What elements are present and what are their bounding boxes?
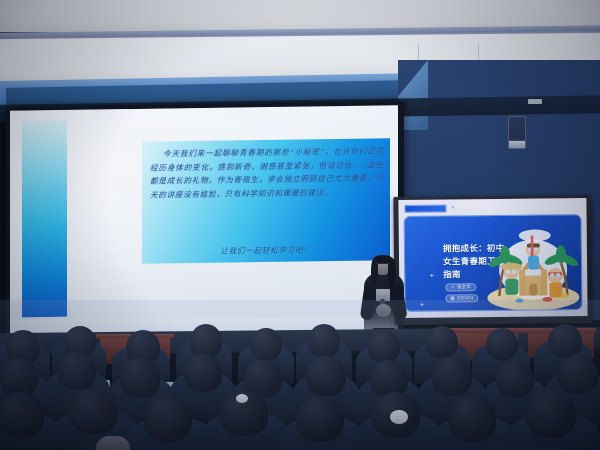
tv-tag-date: ▦ 2025/04 (445, 294, 478, 302)
auditorium-photo: 今天我们来一起聊聊青春期的那些“小秘密”。也许你们正在经历身体的变化，感到新奇、… (0, 0, 600, 450)
speaker-grille (509, 141, 525, 148)
audience-area (0, 318, 600, 450)
person-icon: ☺ (450, 283, 455, 291)
audience-member (306, 356, 346, 396)
slide-accent-bar (22, 120, 67, 318)
sparkle-icon: ✦ (450, 205, 455, 211)
calendar-icon: ▦ (450, 294, 454, 302)
slide-closing-line: 让我们一起轻松学习吧！ (142, 243, 390, 257)
audience-member (558, 354, 598, 394)
audience-member (548, 324, 582, 358)
audience-member (426, 326, 458, 358)
audience-member (526, 390, 576, 438)
audience-member (250, 328, 282, 360)
audience-member (70, 388, 118, 434)
tv-screen: ✦ 拥抱成长：初中女生青春期卫生指南 ☺ 张主华 ▦ 2025/04 ✦ ✦ ✦… (398, 198, 587, 318)
slide-body-text: 今天我们来一起聊聊青春期的那些“小秘密”。也许你们正在经历身体的变化，感到新奇、… (150, 144, 384, 202)
beach-kids-sandcastle-illustration (485, 221, 582, 310)
raised-hand (96, 436, 130, 450)
audience-member (496, 360, 534, 398)
audience-member (448, 396, 496, 442)
audience-member (120, 358, 160, 398)
audience-member (486, 328, 518, 360)
audience-member (432, 356, 472, 396)
tv-slide-card: 拥抱成长：初中女生青春期卫生指南 ☺ 张主华 ▦ 2025/04 ✦ ✦ ✦ ✦ (404, 214, 583, 312)
tv-topbar-chip (404, 204, 446, 212)
glasses-icon (376, 263, 390, 266)
tv-tag-presenter-label: 张主华 (457, 283, 471, 291)
audience-member (0, 392, 44, 438)
audience-member (184, 354, 222, 392)
audience-member (0, 358, 38, 396)
tv-tag-date-label: 2025/04 (457, 294, 474, 302)
audience-member (368, 330, 400, 362)
audience-member (190, 324, 222, 358)
slide-text-panel: 今天我们来一起聊聊青春期的那些“小秘密”。也许你们正在经历身体的变化，感到新奇、… (142, 138, 390, 263)
audience-member (308, 324, 340, 358)
presenter-hands (376, 304, 391, 317)
audience-member (144, 396, 192, 442)
sparkle-icon: ✦ (429, 274, 434, 280)
hair-tie (236, 394, 248, 403)
hair-tie (390, 410, 408, 424)
tv-tag-presenter: ☺ 张主华 (445, 283, 476, 291)
audience-member (58, 352, 96, 390)
audience-member (296, 396, 344, 442)
wall-light-fixture (528, 99, 542, 104)
sparkle-icon: ✦ (419, 303, 424, 309)
